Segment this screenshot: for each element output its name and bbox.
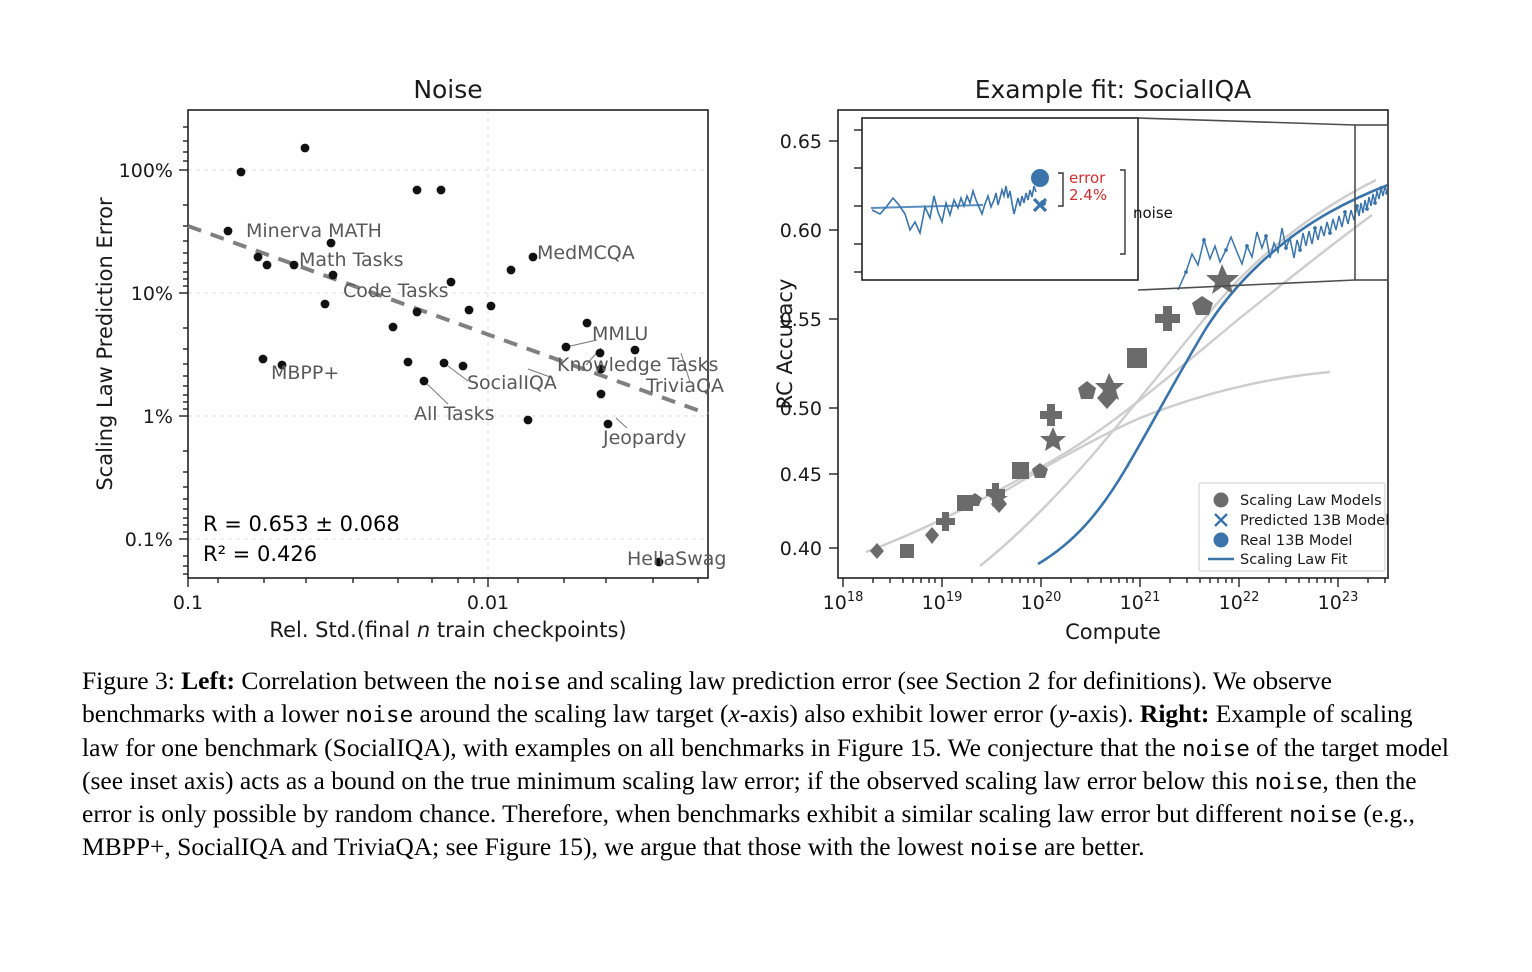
- marker-square: [900, 544, 914, 558]
- blue-run-points: [1184, 186, 1389, 274]
- right-xtick-2: 1020: [1021, 590, 1062, 614]
- scatter-point: [389, 323, 398, 332]
- right-xtick-1: 1019: [922, 590, 963, 614]
- annotation-code-tasks: Code Tasks: [343, 280, 449, 302]
- right-xtick-5: 1023: [1318, 590, 1359, 614]
- scatter-point: [487, 302, 496, 311]
- left-ytick-1: 10%: [131, 283, 173, 305]
- scatter-point: [237, 168, 246, 177]
- left-y-ticks: [179, 127, 188, 574]
- annotation-mmlu: MMLU: [592, 323, 648, 345]
- marker-star: [1040, 427, 1066, 451]
- scatter-point: [597, 390, 606, 399]
- legend-label-3: Scaling Law Fit: [1240, 552, 1348, 568]
- scatter-point: [224, 227, 233, 236]
- legend-real-13b-icon: [1214, 533, 1229, 548]
- marker-square: [1012, 462, 1029, 479]
- scatter-point: [301, 144, 310, 153]
- marker-square: [1127, 348, 1147, 368]
- left-xtick-1: 0.01: [467, 592, 509, 614]
- annotation-mbpp-plus: MBPP+: [271, 362, 339, 384]
- scatter-point: [465, 306, 474, 315]
- figure-3: Noise: [0, 0, 1532, 660]
- right-yaxis-label: RC Accuracy: [773, 279, 797, 410]
- inset-axis: error 2.4% noise: [854, 118, 1173, 280]
- scatter-point: [413, 308, 422, 317]
- right-xaxis-label: Compute: [1065, 620, 1161, 644]
- right-x-ticks: [843, 578, 1385, 587]
- inset-noise-label: noise: [1133, 204, 1173, 222]
- left-panel-title: Noise: [413, 75, 482, 104]
- legend-label-1: Predicted 13B Model: [1240, 513, 1389, 529]
- right-panel-title: Example fit: SocialIQA: [975, 75, 1252, 104]
- scatter-point: [459, 362, 468, 371]
- scatter-point: [254, 253, 263, 262]
- inset-real-13b-marker: [1031, 169, 1049, 187]
- left-ytick-3: 0.1%: [125, 529, 173, 551]
- marker-plus: [1040, 404, 1062, 426]
- scatter-point: [404, 358, 413, 367]
- scaling-law-model-markers: [870, 264, 1239, 559]
- annotation-minerva-math: Minerva MATH: [246, 220, 382, 242]
- annotation-hellaswag: HellaSwag: [627, 548, 726, 570]
- stat-r: R = 0.653 ± 0.068: [203, 512, 400, 536]
- right-ytick-0: 0.65: [780, 131, 822, 153]
- legend-label-2: Real 13B Model: [1240, 533, 1352, 549]
- scatter-point: [263, 261, 272, 270]
- scatter-point: [329, 271, 338, 280]
- right-ytick-5: 0.40: [780, 538, 822, 560]
- marker-diamond: [925, 527, 939, 544]
- scatter-point: [321, 300, 330, 309]
- marker-pentagon: [1192, 296, 1213, 315]
- annotation-socialiqa: SocialIQA: [467, 372, 557, 394]
- scatter-point: [420, 377, 429, 386]
- marker-plus: [1155, 306, 1180, 331]
- right-xtick-3: 1021: [1120, 590, 1161, 614]
- right-xtick-0: 1018: [823, 590, 864, 614]
- scatter-point: [259, 355, 268, 364]
- right-xtick-labels: 1018 1019 1020 1021 1022 1023: [823, 590, 1359, 614]
- scatter-point: [507, 266, 516, 275]
- annotation-all-tasks: All Tasks: [414, 403, 495, 425]
- right-legend: Scaling Law Models Predicted 13B Model R…: [1199, 483, 1389, 571]
- left-ytick-0: 100%: [119, 160, 173, 182]
- figure-caption: Figure 3: Left: Correlation between the …: [82, 664, 1452, 864]
- left-yaxis-label: Scaling Law Prediction Error: [93, 197, 117, 491]
- annotation-triviaqa: TriviaQA: [645, 375, 724, 397]
- scatter-point: [290, 261, 299, 270]
- figure-svg: Noise: [0, 0, 1532, 660]
- scatter-point: [583, 319, 592, 328]
- scatter-point: [440, 359, 449, 368]
- inset-zoom-region: [1138, 118, 1388, 290]
- annotation-knowledge-tasks: Knowledge Tasks: [557, 354, 718, 376]
- marker-pentagon: [1078, 381, 1096, 399]
- scatter-point: [562, 343, 571, 352]
- right-ytick-4: 0.45: [780, 464, 822, 486]
- scatter-point: [413, 186, 422, 195]
- annotation-medmcqa: MedMCQA: [537, 242, 635, 264]
- scatter-point: [524, 416, 533, 425]
- inset-error-value: 2.4%: [1069, 186, 1107, 204]
- legend-label-0: Scaling Law Models: [1240, 493, 1382, 509]
- left-panel: Noise: [93, 75, 726, 642]
- inset-error-label: error: [1069, 169, 1106, 187]
- scatter-point: [437, 186, 446, 195]
- left-ytick-2: 1%: [143, 406, 173, 428]
- legend-scaling-law-models-icon: [1214, 493, 1229, 508]
- stat-r2: R² = 0.426: [203, 542, 317, 566]
- right-panel: Example fit: SocialIQA 0.65 0.60 0.55 0.…: [773, 75, 1389, 644]
- right-ytick-1: 0.60: [780, 220, 822, 242]
- left-xtick-0: 0.1: [173, 592, 203, 614]
- left-xaxis-label: Rel. Std.(final n train checkpoints): [269, 618, 626, 642]
- right-y-ticks: [829, 141, 838, 548]
- left-x-ticks: [188, 578, 698, 587]
- right-xtick-4: 1022: [1219, 590, 1260, 614]
- annotation-math-tasks: Math Tasks: [299, 249, 403, 271]
- annotation-jeopardy: Jeopardy: [602, 427, 686, 449]
